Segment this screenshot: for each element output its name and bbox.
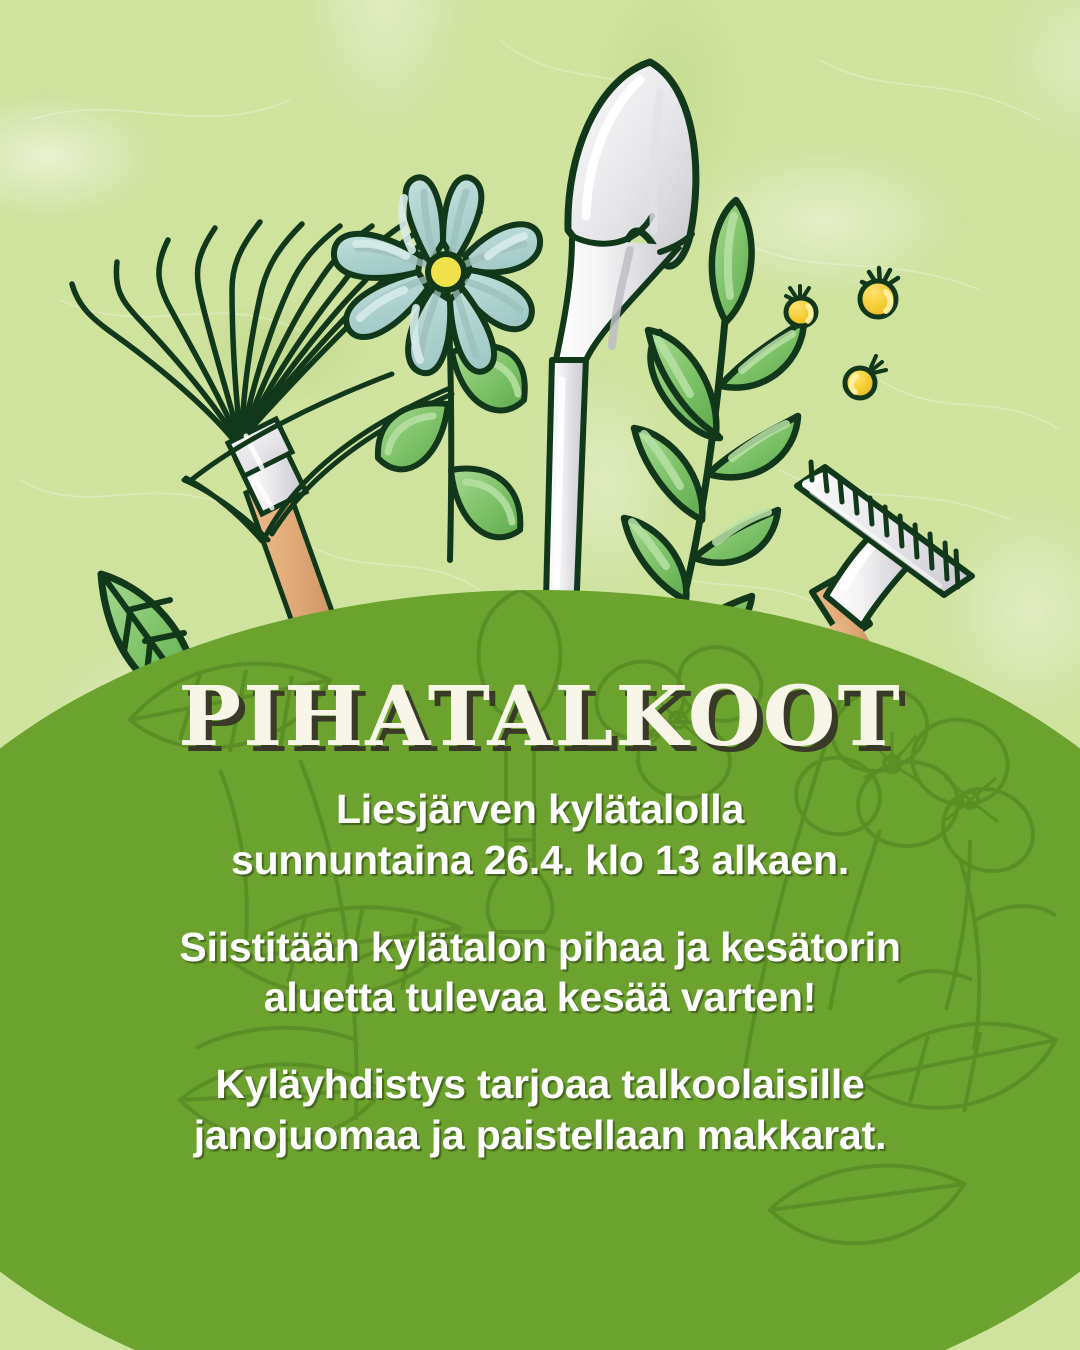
poster-text-block: PIHATALKOOT Liesjärven kylätalolla sunnu… — [0, 676, 1080, 1161]
page-title: PIHATALKOOT — [0, 676, 1080, 758]
event-venue: Liesjärven kylätalolla — [336, 786, 744, 832]
event-description: Siistitään kylätalon pihaa ja kesätorin … — [0, 922, 1080, 1024]
event-time-label: klo — [585, 837, 644, 883]
refreshments-line-1: Kyläyhdistys tarjoaa talkoolaisille — [215, 1061, 864, 1107]
event-day: sunnuntaina — [231, 837, 473, 883]
event-time-suffix: alkaen. — [711, 837, 849, 883]
description-line-2: aluetta tulevaa kesää varten! — [264, 974, 817, 1020]
poster: PIHATALKOOT Liesjärven kylätalolla sunnu… — [0, 0, 1080, 1350]
event-datetime: sunnuntaina 26.4. klo 13 alkaen. — [231, 837, 849, 883]
flower-icon — [334, 177, 540, 560]
event-time: 13 — [655, 837, 700, 883]
event-location-line: Liesjärven kylätalolla sunnuntaina 26.4.… — [0, 784, 1080, 886]
event-refreshments: Kyläyhdistys tarjoaa talkoolaisille jano… — [0, 1059, 1080, 1161]
event-date: 26.4. — [484, 837, 574, 883]
description-line-1: Siistitään kylätalon pihaa ja kesätorin — [179, 924, 900, 970]
refreshments-line-2: janojuomaa ja paistellaan makkarat. — [194, 1112, 887, 1158]
